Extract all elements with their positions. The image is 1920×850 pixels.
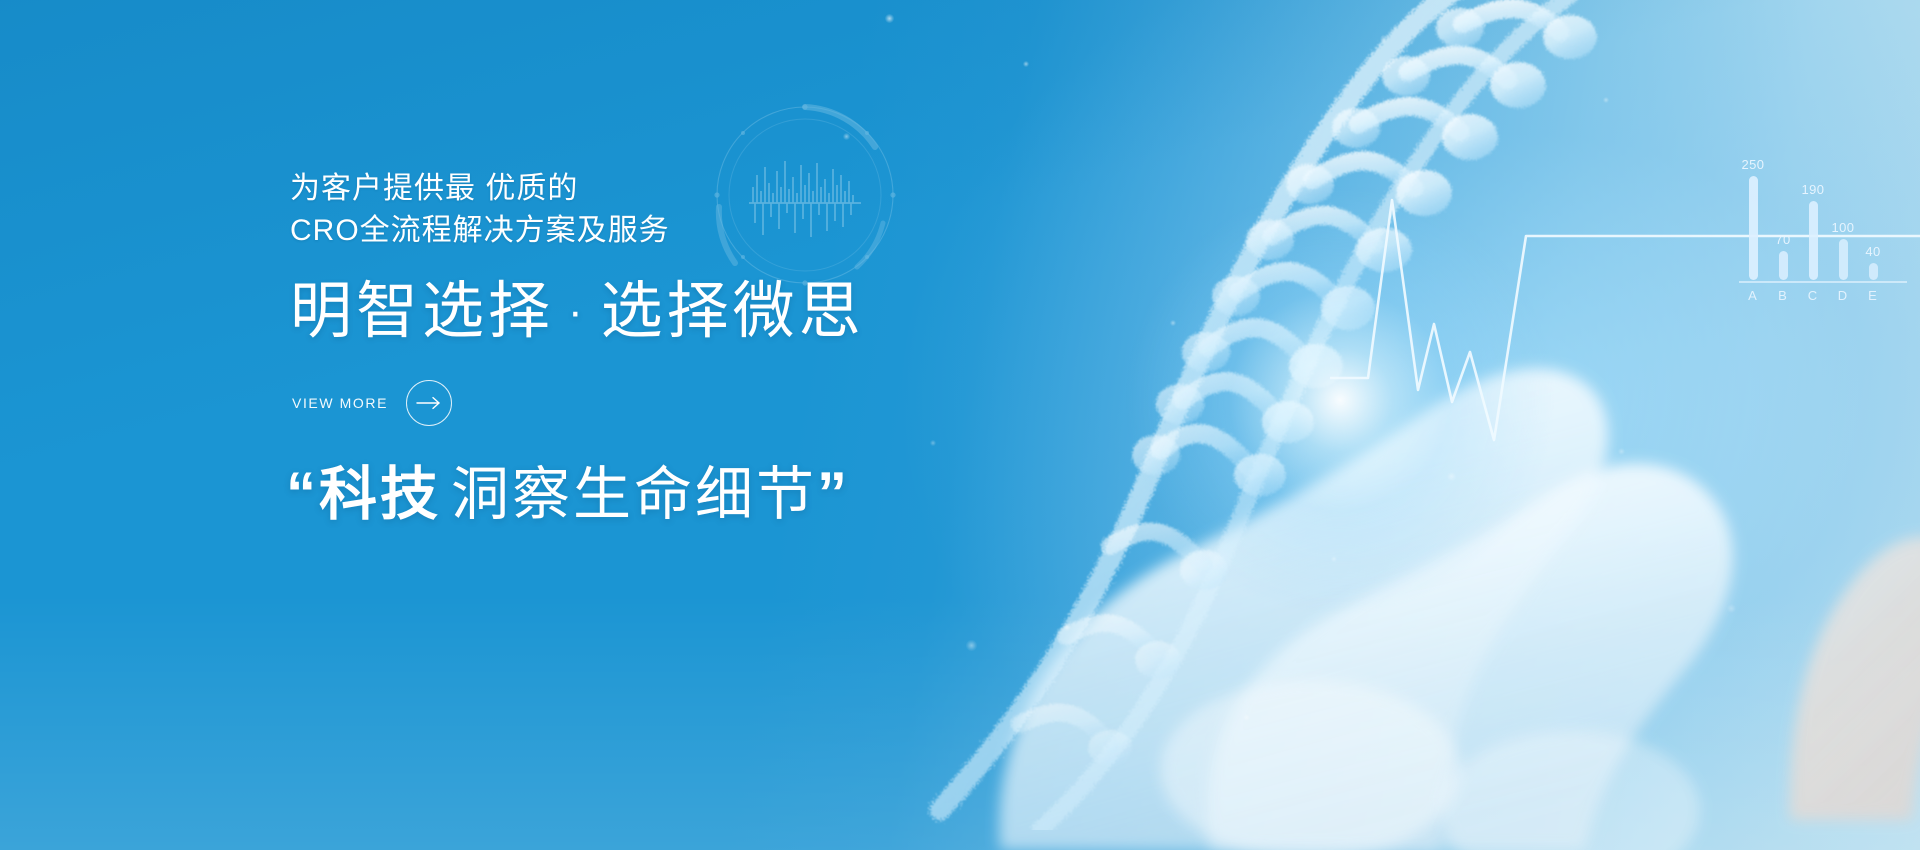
hero-content: 为客户提供最 优质的 CRO全流程解决方案及服务 明智选择·选择微思 VIEW … xyxy=(290,0,1050,850)
hero-subtitle: 为客户提供最 优质的 CRO全流程解决方案及服务 xyxy=(290,168,670,252)
quote-strong: 科技 xyxy=(319,462,441,527)
arrow-right-icon[interactable] xyxy=(406,380,452,426)
view-more-button[interactable]: VIEW MORE xyxy=(292,380,452,426)
view-more-label: VIEW MORE xyxy=(292,395,388,411)
subtitle-line-1: 为客户提供最 优质的 xyxy=(290,168,670,210)
hero-banner: 250 70 190 100 40 A B C D E 为客户提供最 优质的 C… xyxy=(0,0,1920,850)
subtitle-line-2: CRO全流程解决方案及服务 xyxy=(290,210,670,252)
page-title: 明智选择·选择微思 xyxy=(290,272,865,352)
quote-close-mark: ” xyxy=(817,460,850,527)
hero-quote: “科技洞察生命细节” xyxy=(286,455,850,534)
quote-light: 洞察生命细节 xyxy=(441,462,817,527)
headline-right: 选择微思 xyxy=(601,277,865,346)
headline-left: 明智选择 xyxy=(290,277,554,346)
headline-separator: · xyxy=(554,287,601,336)
quote-open-mark: “ xyxy=(286,460,319,527)
